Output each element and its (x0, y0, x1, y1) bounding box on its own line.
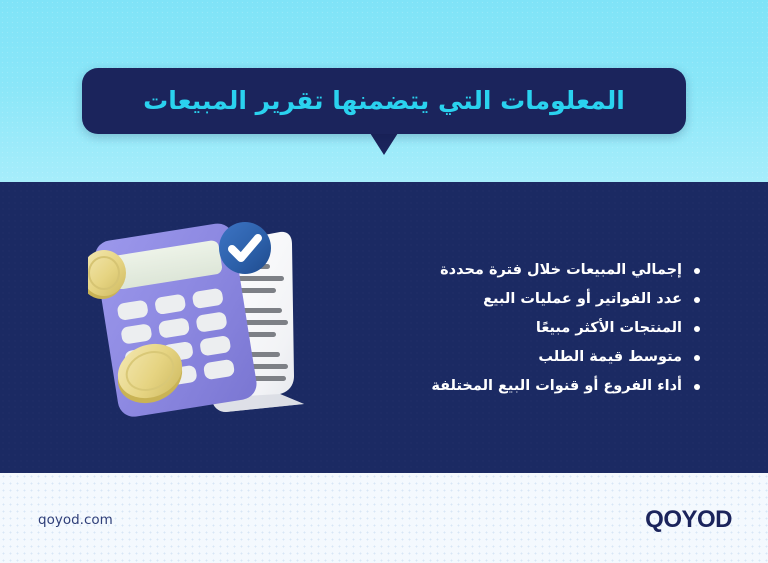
list-item: إجمالي المبيعات خلال فترة محددة (360, 256, 700, 285)
bullet-label: المنتجات الأكثر مبيعًا (536, 319, 682, 337)
bullet-dot-icon (694, 384, 700, 390)
list-item: متوسط قيمة الطلب (360, 343, 700, 372)
illustration-container (88, 206, 338, 426)
bullet-dot-icon (694, 297, 700, 303)
footer-website-url[interactable]: qoyod.com (38, 512, 113, 528)
bullet-label: أداء الفروع أو قنوات البيع المختلفة (431, 377, 682, 395)
bullet-label: إجمالي المبيعات خلال فترة محددة (440, 261, 682, 279)
poster-canvas: المعلومات التي يتضمنها تقرير المبيعات (0, 0, 768, 563)
info-bullet-list: إجمالي المبيعات خلال فترة محددة عدد الفو… (360, 256, 700, 401)
banner-pointer-triangle (370, 133, 398, 155)
list-item: عدد الفواتير أو عمليات البيع (360, 285, 700, 314)
list-item: المنتجات الأكثر مبيعًا (360, 314, 700, 343)
bullet-dot-icon (694, 326, 700, 332)
check-badge-icon (219, 222, 271, 274)
brand-logo: QOYOD (645, 506, 732, 534)
bullet-label: عدد الفواتير أو عمليات البيع (483, 290, 682, 308)
bullet-label: متوسط قيمة الطلب (538, 348, 682, 366)
bullet-dot-icon (694, 268, 700, 274)
title-banner: المعلومات التي يتضمنها تقرير المبيعات (82, 68, 686, 134)
page-title: المعلومات التي يتضمنها تقرير المبيعات (129, 87, 639, 116)
bullet-dot-icon (694, 355, 700, 361)
calculator-receipt-icon (88, 206, 338, 426)
list-item: أداء الفروع أو قنوات البيع المختلفة (360, 372, 700, 401)
